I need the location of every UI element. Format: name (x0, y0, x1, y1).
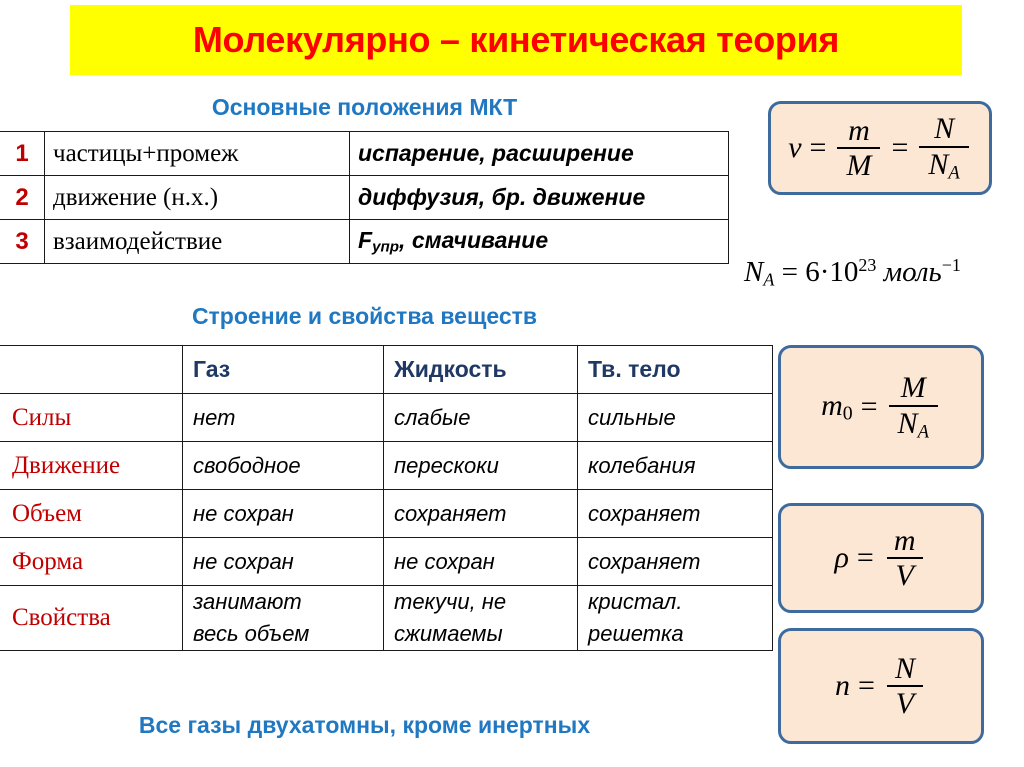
mkt-row-proof: испарение, расширение (350, 132, 729, 176)
avogadro-base: N (928, 148, 948, 181)
props-cell-liquid: перескоки (384, 442, 578, 490)
force-subscript: упр (372, 239, 399, 256)
props-row-label: Свойства (0, 586, 183, 651)
fraction-numerator: N (925, 113, 963, 146)
fraction-numerator: m (885, 525, 925, 558)
props-row-label: Форма (0, 538, 183, 586)
formula-box-molecule-mass: m0 = M NA (778, 345, 984, 469)
mass-symbol: m (821, 389, 843, 422)
avogadro-base: N (744, 256, 763, 288)
equals-sign: = (891, 131, 908, 165)
avogadro-subscript: A (763, 269, 774, 289)
table-row: Объем не сохран сохраняет сохраняет (0, 490, 773, 538)
fraction-m-over-M: m M (837, 115, 880, 182)
avogadro-base: N (898, 407, 918, 440)
props-row-label: Движение (0, 442, 183, 490)
formula-nu: ν = m M = N NA (788, 113, 972, 183)
table-mkt-principles: 1 частицы+промеж испарение, расширение 2… (0, 131, 729, 264)
table-row: Силы нет слабые сильные (0, 394, 773, 442)
fraction-numerator: N (886, 653, 924, 686)
section-caption-structure: Строение и свойства веществ (0, 303, 729, 330)
fraction-N-over-V: N V (886, 653, 924, 720)
formula-m0: m0 = M NA (821, 372, 941, 442)
props-cell-gas: свободное (183, 442, 384, 490)
props-cell-solid: колебания (578, 442, 773, 490)
props-cell-liquid: сохраняет (384, 490, 578, 538)
equals-sign: = (810, 131, 827, 165)
avogadro-subscript: A (948, 162, 959, 183)
props-header-liquid: Жидкость (384, 346, 578, 394)
table-row: Свойства занимаютвесь объем текучи, несж… (0, 586, 773, 651)
props-row-label: Объем (0, 490, 183, 538)
mkt-row-proof: диффузия, бр. движение (350, 176, 729, 220)
section-caption-gases-note: Все газы двухатомны, кроме инертных (0, 712, 729, 739)
formula-n-lhs: n (835, 669, 850, 703)
title-banner: Молекулярно – кинетическая теория (70, 5, 962, 75)
fraction-N-over-NA: N NA (919, 113, 968, 183)
avogadro-mantissa: 6 (805, 256, 820, 288)
fraction-m-over-V: m V (885, 525, 925, 592)
force-symbol: F (358, 227, 372, 253)
avogadro-unit: моль (884, 256, 942, 288)
table-row: 2 движение (н.х.) диффузия, бр. движение (0, 176, 729, 220)
multiplication-dot: · (820, 256, 830, 288)
avogadro-base10: 10 (829, 256, 858, 288)
table-substance-properties: Газ Жидкость Тв. тело Силы нет слабые си… (0, 345, 773, 651)
props-cell-liquid: текучи, несжимаемы (384, 586, 578, 651)
table-header-row: Газ Жидкость Тв. тело (0, 346, 773, 394)
props-cell-liquid: не сохран (384, 538, 578, 586)
formula-avogadro-constant: NA = 6·1023 моль−1 (744, 255, 961, 290)
section-caption-mkt: Основные положения МКТ (0, 94, 729, 121)
avogadro-subscript: A (918, 421, 929, 442)
fraction-denominator: NA (889, 405, 938, 442)
mkt-row-number: 3 (0, 220, 45, 264)
props-row-label: Силы (0, 394, 183, 442)
formula-rho-lhs: ρ (835, 541, 849, 575)
avogadro-unit-exponent: −1 (942, 255, 961, 275)
formula-box-density: ρ = m V (778, 503, 984, 613)
props-cell-solid: сильные (578, 394, 773, 442)
formula-m0-lhs: m0 (821, 389, 853, 425)
page-title: Молекулярно – кинетическая теория (193, 19, 839, 61)
props-cell-solid: кристал.решетка (578, 586, 773, 651)
formula-rho: ρ = m V (835, 525, 928, 592)
equals-sign: = (861, 390, 878, 424)
props-corner-cell (0, 346, 183, 394)
props-cell-gas: не сохран (183, 490, 384, 538)
equals-sign: = (858, 669, 875, 703)
props-cell-gas: нет (183, 394, 384, 442)
mkt-row-proof: Fупр, смачивание (350, 220, 729, 264)
props-header-gas: Газ (183, 346, 384, 394)
fraction-M-over-NA: M NA (889, 372, 938, 442)
mkt-row-statement: взаимодействие (45, 220, 350, 264)
table-row: Форма не сохран не сохран сохраняет (0, 538, 773, 586)
mkt-row-number: 1 (0, 132, 45, 176)
formula-n: n = N V (835, 653, 927, 720)
proof-remainder: , смачивание (399, 227, 548, 253)
props-header-solid: Тв. тело (578, 346, 773, 394)
formula-nu-lhs: ν (788, 131, 801, 165)
mkt-row-number: 2 (0, 176, 45, 220)
fraction-denominator: V (887, 557, 923, 592)
props-cell-gas: не сохран (183, 538, 384, 586)
fraction-denominator: M (837, 147, 880, 182)
equals-sign: = (857, 541, 874, 575)
props-cell-gas: занимаютвесь объем (183, 586, 384, 651)
equals-sign: = (782, 256, 806, 288)
fraction-numerator: M (892, 372, 935, 405)
fraction-denominator: V (887, 685, 923, 720)
table-row: 3 взаимодействие Fупр, смачивание (0, 220, 729, 264)
mkt-row-statement: движение (н.х.) (45, 176, 350, 220)
table-row: Движение свободное перескоки колебания (0, 442, 773, 490)
props-cell-liquid: слабые (384, 394, 578, 442)
props-cell-solid: сохраняет (578, 490, 773, 538)
formula-box-amount-of-substance: ν = m M = N NA (768, 101, 992, 195)
mkt-row-statement: частицы+промеж (45, 132, 350, 176)
formula-box-concentration: n = N V (778, 628, 984, 744)
fraction-numerator: m (839, 115, 879, 148)
table-row: 1 частицы+промеж испарение, расширение (0, 132, 729, 176)
props-cell-solid: сохраняет (578, 538, 773, 586)
avogadro-exponent: 23 (858, 255, 876, 275)
fraction-denominator: NA (919, 146, 968, 183)
mass-subscript: 0 (843, 402, 853, 424)
